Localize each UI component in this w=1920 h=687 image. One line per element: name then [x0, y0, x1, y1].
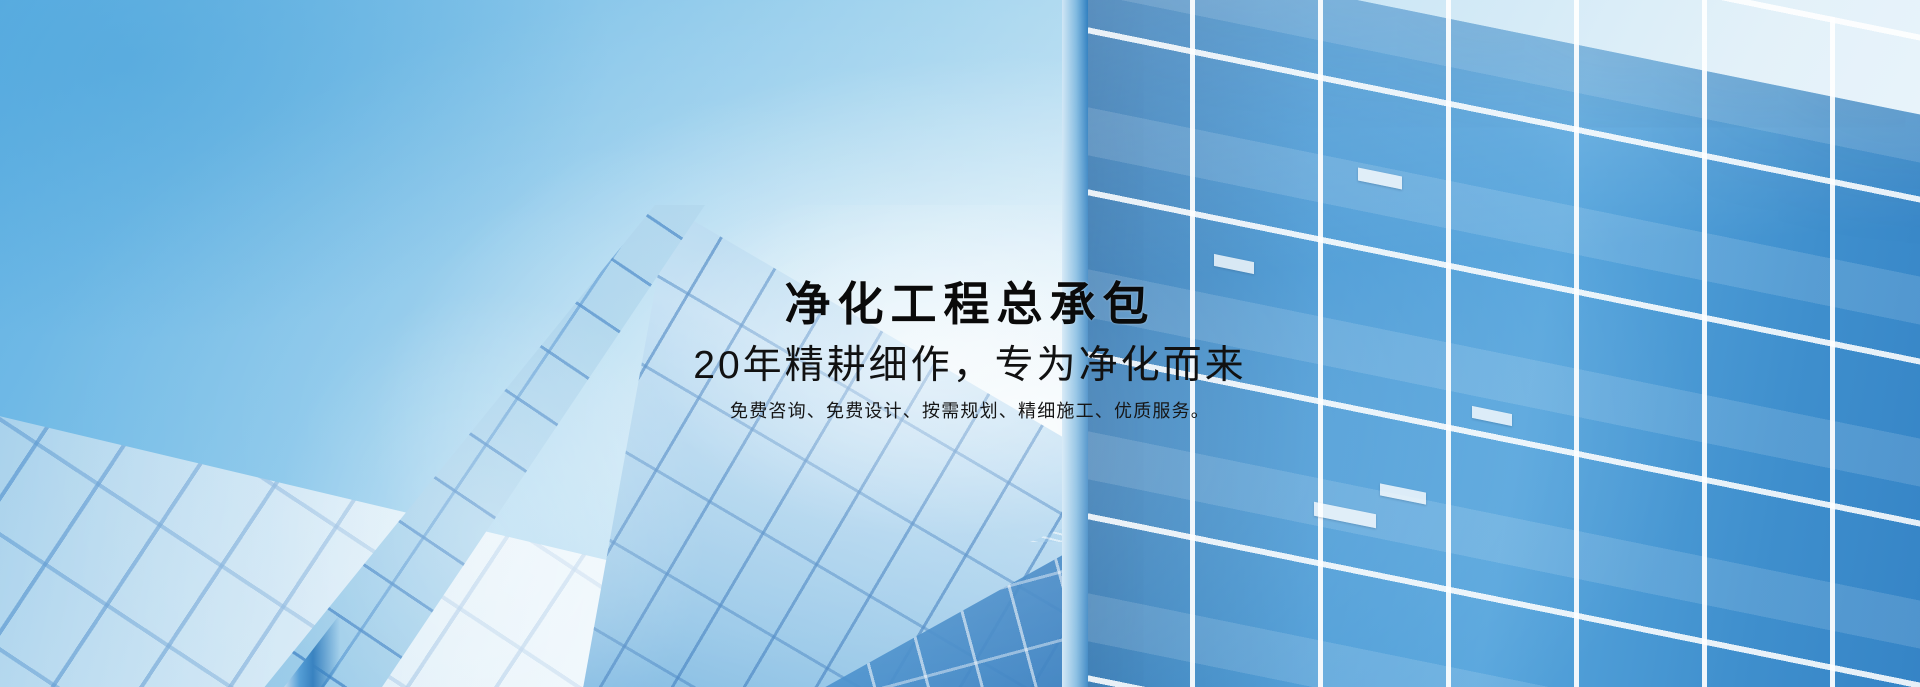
page-title: 净化工程总承包 — [10, 278, 1920, 331]
page-subtitle: 20年精耕细作，专为净化而来 — [10, 343, 1920, 390]
page-tagline: 免费咨询、免费设计、按需规划、精细施工、优质服务。 — [10, 400, 1920, 423]
hero-copy: 净化工程总承包 20年精耕细作，专为净化而来 免费咨询、免费设计、按需规划、精细… — [0, 278, 1920, 423]
hero-banner: 净化工程总承包 20年精耕细作，专为净化而来 免费咨询、免费设计、按需规划、精细… — [0, 0, 1920, 687]
